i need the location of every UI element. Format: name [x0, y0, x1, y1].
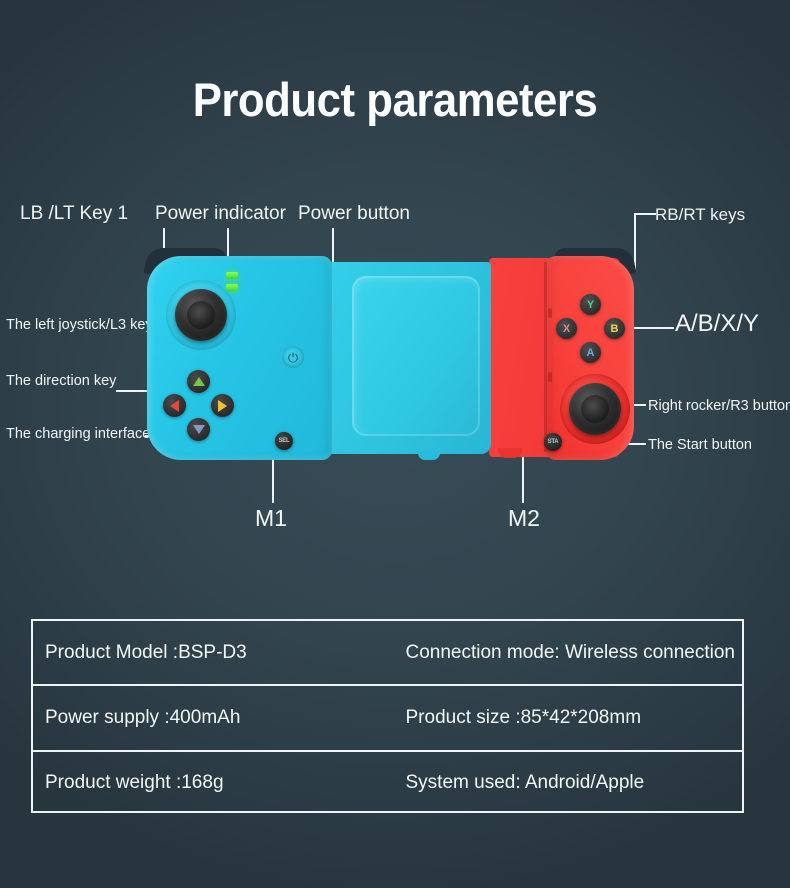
spec-cell-product-weight: Product weight :168g: [33, 752, 388, 815]
left-extension-phone-cradle: [352, 276, 480, 436]
triangle-right-icon: [218, 400, 227, 412]
callout-label-direction-key: The direction key: [6, 373, 116, 389]
callout-label-abxy: A/B/X/Y: [675, 310, 759, 338]
table-row: Product Model :BSP-D3 Connection mode: W…: [33, 621, 742, 686]
button-a[interactable]: A: [580, 342, 601, 363]
spec-cell-connection-mode: Connection mode: Wireless connection: [388, 621, 743, 684]
callout-label-charging-interface: The charging interface: [6, 426, 150, 442]
right-seam-line: [544, 262, 547, 452]
button-b[interactable]: B: [604, 318, 625, 339]
callout-label-power-indicator: Power indicator: [155, 203, 286, 225]
specification-table: Product Model :BSP-D3 Connection mode: W…: [31, 619, 744, 813]
left-grip: [147, 256, 332, 460]
button-y[interactable]: Y: [580, 294, 601, 315]
triangle-up-icon: [193, 377, 205, 386]
spec-cell-product-size: Product size :85*42*208mm: [388, 686, 743, 749]
table-row: Product weight :168g System used: Androi…: [33, 752, 742, 815]
callout-label-power-button: Power button: [298, 203, 410, 225]
power-button[interactable]: ⏻: [282, 346, 304, 368]
start-button[interactable]: STA: [544, 433, 562, 451]
left-joystick[interactable]: [175, 289, 227, 341]
leader-line-rb-rt-horizontal: [634, 213, 656, 215]
gamepad-illustration: ⏻ SEL Y X B A STA: [130, 248, 650, 463]
power-indicator-led-2: [226, 284, 238, 291]
dpad-right-button[interactable]: [211, 394, 234, 417]
button-x[interactable]: X: [556, 318, 577, 339]
select-button[interactable]: SEL: [275, 432, 293, 450]
callout-label-lb-lt: LB /LT Key 1: [20, 203, 128, 225]
right-seam-detail-bottom: [548, 372, 552, 382]
callout-label-start-button: The Start button: [648, 437, 752, 453]
callout-label-rb-rt: RB/RT keys: [655, 205, 745, 225]
triangle-down-icon: [193, 425, 205, 434]
right-joystick[interactable]: [569, 383, 621, 435]
dpad-up-button[interactable]: [187, 370, 210, 393]
power-icon: ⏻: [282, 346, 304, 368]
right-extension-notch: [498, 448, 522, 458]
product-parameters-infographic: Product parameters LB /LT Key 1 Power in…: [0, 0, 790, 888]
right-seam-detail-top: [548, 308, 552, 318]
callout-label-m2: M2: [508, 505, 540, 532]
callout-label-m1: M1: [255, 505, 287, 532]
page-title: Product parameters: [28, 72, 763, 127]
dpad-down-button[interactable]: [187, 418, 210, 441]
dpad-left-button[interactable]: [163, 394, 186, 417]
spec-cell-system-used: System used: Android/Apple: [388, 752, 743, 815]
power-indicator-led-1: [226, 272, 238, 279]
callout-label-right-rocker: Right rocker/R3 button: [648, 398, 790, 414]
left-extension-notch: [418, 451, 440, 460]
table-row: Power supply :400mAh Product size :85*42…: [33, 686, 742, 751]
spec-cell-power-supply: Power supply :400mAh: [33, 686, 388, 749]
triangle-left-icon: [170, 400, 179, 412]
spec-cell-product-model: Product Model :BSP-D3: [33, 621, 388, 684]
